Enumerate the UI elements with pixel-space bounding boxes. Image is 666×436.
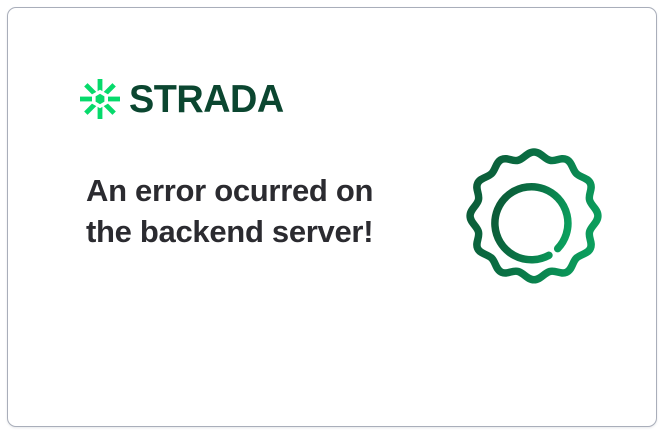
strada-asterisk-icon xyxy=(80,79,120,119)
gear-cog-icon xyxy=(451,142,617,308)
error-message-text: An error ocurred on the backend server! xyxy=(86,170,376,252)
brand-lockup: STRADA xyxy=(80,76,289,122)
brand-wordmark: STRADA xyxy=(129,80,284,119)
error-card: STRADA An error ocurred on the backend s… xyxy=(7,7,657,427)
